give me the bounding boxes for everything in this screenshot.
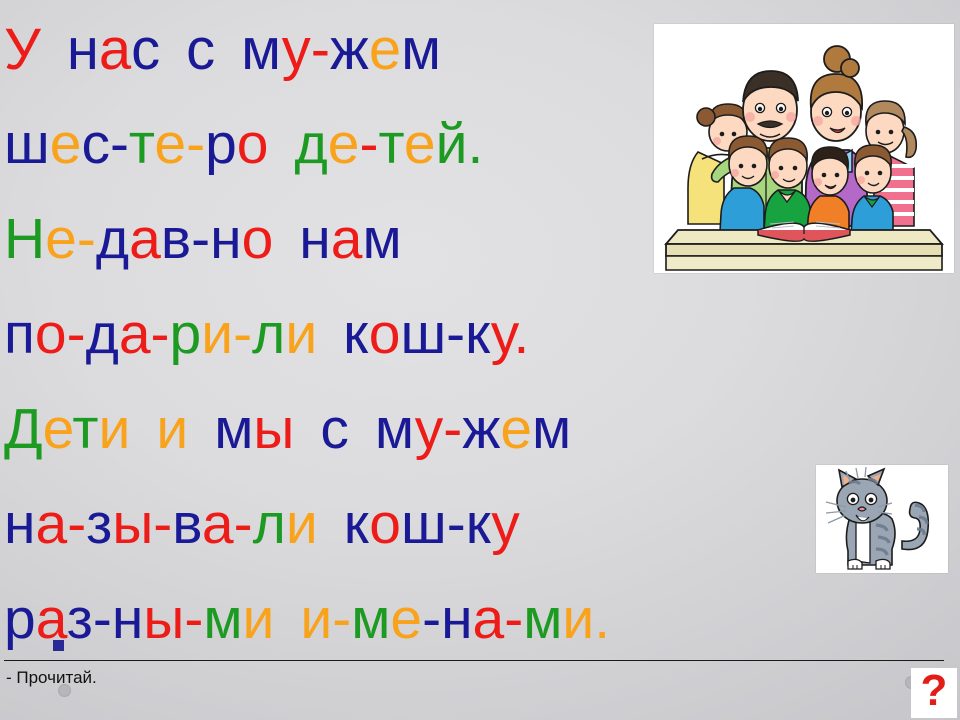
verse-glyph: з: [86, 492, 112, 556]
verse-glyph: .: [594, 587, 610, 651]
verse-glyph: с: [81, 112, 110, 176]
svg-text:?: ?: [921, 668, 948, 715]
verse-glyph: м: [523, 587, 562, 651]
verse-glyph: Д: [4, 397, 43, 461]
verse-glyph: м: [351, 587, 390, 651]
verse-glyph: е: [45, 207, 77, 271]
verse-glyph: У: [4, 17, 41, 82]
verse-glyph: ж: [462, 397, 500, 461]
verse-glyph: и: [562, 587, 594, 651]
verse-glyph: к: [343, 302, 369, 366]
verse-glyph: Н: [4, 207, 45, 271]
verse-glyph: т: [129, 112, 154, 176]
verse-glyph: -: [359, 112, 378, 176]
hint-question-badge[interactable]: ?: [911, 668, 957, 718]
verse-glyph: -: [504, 587, 523, 651]
verse-glyph: л: [253, 492, 286, 556]
verse-glyph: о: [369, 492, 401, 556]
verse-glyph: -: [153, 492, 172, 556]
verse-glyph: -: [332, 587, 351, 651]
verse-glyph: ш: [400, 302, 446, 366]
verse-glyph: -: [77, 207, 96, 271]
verse-glyph: к: [465, 302, 491, 366]
verse-line: раз-ны-мии-ме-на-ми.: [4, 572, 850, 667]
verse-glyph: ы: [253, 397, 294, 461]
verse-glyph: ш: [401, 492, 447, 556]
verse-glyph: в: [161, 207, 191, 271]
verse-glyph: -: [186, 112, 205, 176]
verse-glyph: д: [96, 207, 129, 271]
verse-glyph: и: [201, 302, 233, 366]
verse-glyph: л: [252, 302, 285, 366]
verse-line: Детиимысму-жем: [4, 382, 850, 477]
verse-glyph: а: [202, 492, 234, 556]
verse-glyph: ы: [112, 492, 153, 556]
verse-glyph: и: [300, 587, 332, 651]
verse-line: на-зы-ва-ликош-ку: [4, 477, 850, 572]
verse-glyph: а: [119, 302, 151, 366]
verse-glyph: з: [67, 587, 93, 651]
verse-glyph: о: [369, 302, 401, 366]
verse-glyph: у: [491, 302, 514, 366]
verse-glyph: ы: [143, 587, 184, 651]
verse-glyph: п: [4, 302, 35, 366]
verse-glyph: р: [4, 587, 36, 651]
verse-glyph: н: [4, 492, 35, 556]
verse-glyph: -: [447, 492, 466, 556]
verse-glyph: р: [205, 112, 237, 176]
verse-glyph: т: [72, 397, 98, 461]
verse-glyph: -: [67, 302, 86, 366]
verse-glyph: н: [67, 17, 99, 82]
verse-glyph: м: [375, 397, 415, 461]
verse-glyph: о: [237, 112, 269, 176]
verse-glyph: е: [390, 587, 422, 651]
verse-glyph: е: [369, 17, 401, 82]
verse-glyph: е: [50, 112, 82, 176]
cat-photo: [816, 465, 948, 573]
verse-glyph: м: [241, 17, 282, 82]
verse-glyph: й: [436, 112, 468, 176]
verse-glyph: н: [441, 587, 472, 651]
verse-glyph: -: [443, 397, 462, 461]
question-mark-icon: ?: [911, 668, 957, 718]
verse-glyph: а: [331, 207, 363, 271]
family-photo: [654, 24, 954, 273]
bullet-dot-left: [58, 684, 71, 697]
blue-square-marker: [53, 640, 64, 651]
verse-glyph: с: [131, 17, 160, 82]
verse-glyph: н: [112, 587, 143, 651]
footer-note: - Прочитай.: [6, 668, 97, 688]
verse-glyph: м: [532, 397, 571, 461]
verse-glyph: е: [328, 112, 360, 176]
verse-glyph: -: [191, 207, 210, 271]
verse-glyph: к: [344, 492, 370, 556]
verse-glyph: -: [184, 587, 203, 651]
verse-glyph: о: [242, 207, 274, 271]
verse-glyph: и: [99, 397, 131, 461]
verse-glyph: т: [378, 112, 403, 176]
verse-glyph: к: [466, 492, 492, 556]
verse-glyph: а: [35, 492, 67, 556]
verse-glyph: ж: [330, 17, 369, 82]
verse-glyph: -: [110, 112, 129, 176]
verse-glyph: .: [467, 112, 483, 176]
verse-glyph: у: [415, 397, 444, 461]
verse-glyph: о: [35, 302, 67, 366]
verse-glyph: -: [93, 587, 112, 651]
verse-glyph: р: [170, 302, 202, 366]
cat-illustration: [816, 465, 948, 573]
verse-glyph: н: [210, 207, 241, 271]
verse-glyph: и: [285, 302, 317, 366]
verse-glyph: и: [156, 397, 188, 461]
footer-divider: [4, 660, 944, 661]
verse-glyph: -: [234, 492, 253, 556]
verse-glyph: -: [422, 587, 441, 651]
verse-glyph: а: [129, 207, 161, 271]
verse-glyph: -: [446, 302, 465, 366]
verse-glyph: а: [473, 587, 505, 651]
verse-glyph: д: [294, 112, 327, 176]
verse-glyph: а: [99, 17, 131, 82]
verse-glyph: м: [401, 17, 441, 82]
verse-glyph: д: [86, 302, 119, 366]
verse-glyph: е: [154, 112, 186, 176]
verse-line: по-да-ри-ликош-ку.: [4, 287, 850, 382]
verse-glyph: -: [311, 17, 330, 82]
verse-glyph: у: [491, 492, 520, 556]
verse-glyph: и: [286, 492, 318, 556]
verse-glyph: н: [299, 207, 330, 271]
verse-glyph: м: [203, 587, 242, 651]
verse-glyph: в: [172, 492, 202, 556]
verse-glyph: м: [362, 207, 401, 271]
verse-glyph: -: [151, 302, 170, 366]
slide-canvas: Унассму-жемшес-те-роде-тей.Не-дав-нонамп…: [0, 0, 960, 720]
verse-glyph: -: [67, 492, 86, 556]
verse-glyph: е: [500, 397, 532, 461]
verse-glyph: и: [243, 587, 275, 651]
verse-glyph: е: [404, 112, 436, 176]
verse-glyph: с: [320, 397, 349, 461]
verse-glyph: -: [233, 302, 252, 366]
verse-glyph: е: [43, 397, 73, 461]
verse-glyph: с: [186, 17, 215, 82]
verse-glyph: .: [514, 302, 530, 366]
family-illustration: [654, 24, 954, 273]
verse-glyph: ш: [4, 112, 50, 176]
verse-glyph: м: [214, 397, 253, 461]
verse-glyph: у: [282, 17, 311, 82]
